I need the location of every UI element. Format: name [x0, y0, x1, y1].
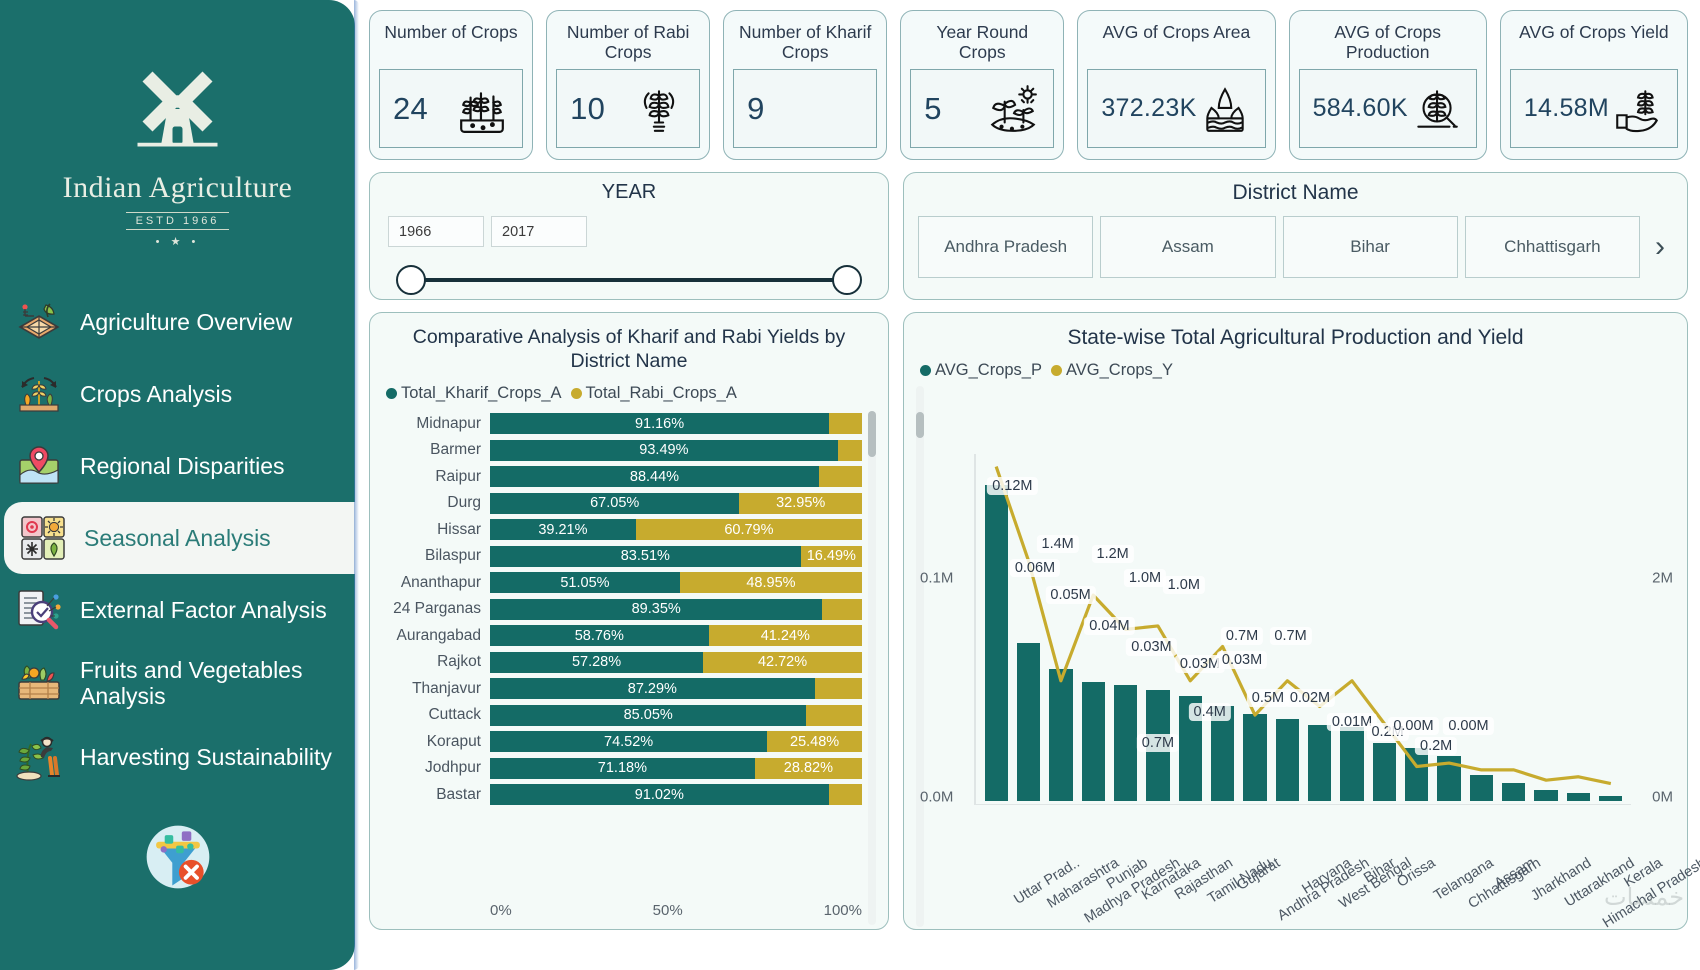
- bar-row-label: Jodhpur: [380, 759, 490, 777]
- bar-segment-rabi-label: 42.72%: [758, 654, 807, 670]
- bar-segment-kharif[interactable]: 88.44%: [490, 466, 819, 487]
- bar-segment-kharif[interactable]: 87.29%: [490, 678, 815, 699]
- bar-segment-kharif-label: 57.28%: [572, 654, 621, 670]
- map-pin-icon: [14, 441, 64, 491]
- bar-row[interactable]: Bilaspur83.51%16.49%: [380, 543, 862, 569]
- crop-cycle-icon: [14, 369, 64, 419]
- bar-segment-rabi[interactable]: [822, 599, 862, 620]
- bar-segment-kharif-label: 39.21%: [538, 522, 587, 538]
- kpi-value: 14.58M: [1524, 94, 1609, 123]
- bar-segment-kharif-label: 89.35%: [632, 601, 681, 617]
- statewise-data-label: 0.00M: [1388, 717, 1438, 735]
- district-option-chhattisgarh[interactable]: Chhattisgarh: [1465, 216, 1640, 278]
- kpi-card-avg-of-crops-production[interactable]: AVG of Crops Production584.60K: [1289, 10, 1487, 160]
- bar-segment-kharif-label: 58.76%: [575, 628, 624, 644]
- bar-stack: 87.29%: [490, 678, 862, 699]
- bar-segment-kharif-label: 71.18%: [598, 760, 647, 776]
- sidebar-item-label: Agriculture Overview: [80, 309, 292, 335]
- district-filter-title: District Name: [918, 181, 1673, 205]
- sidebar-item-label: External Factor Analysis: [80, 597, 327, 623]
- bar-segment-kharif[interactable]: 39.21%: [490, 519, 636, 540]
- bar-chart-scroll-thumb[interactable]: [868, 411, 876, 457]
- bar-segment-kharif[interactable]: 57.28%: [490, 652, 703, 673]
- sidebar-item-label: Seasonal Analysis: [84, 525, 271, 551]
- bar-stack: 83.51%16.49%: [490, 546, 862, 567]
- bar-segment-rabi[interactable]: 60.79%: [636, 519, 862, 540]
- crop-rows-icon: [454, 83, 510, 135]
- district-option-bihar[interactable]: Bihar: [1283, 216, 1458, 278]
- legend-dot-kharif: [386, 388, 397, 399]
- kpi-body: 584.60K: [1299, 69, 1477, 148]
- bar-segment-kharif-label: 83.51%: [621, 548, 670, 564]
- statewise-plot-area: 0.12M1.4M0.06M1.2M0.05M1.0M1.0M0.04M0.03…: [914, 382, 1677, 923]
- bar-row[interactable]: Durg67.05%32.95%: [380, 490, 862, 516]
- bar-row-label: Raipur: [380, 468, 490, 486]
- wheat-bundle-icon: [631, 83, 687, 135]
- bar-row-label: Koraput: [380, 733, 490, 751]
- bar-stack: 91.16%: [490, 413, 862, 434]
- bar-segment-kharif-label: 85.05%: [624, 707, 673, 723]
- bar-segment-kharif[interactable]: 67.05%: [490, 493, 739, 514]
- bar-segment-kharif[interactable]: 71.18%: [490, 758, 755, 779]
- bar-segment-kharif-label: 91.02%: [635, 787, 684, 803]
- bar-row[interactable]: Rajkot57.28%42.72%: [380, 649, 862, 675]
- statewise-chart-card: State-wise Total Agricultural Production…: [903, 312, 1688, 930]
- bar-stack: 51.05%48.95%: [490, 572, 862, 593]
- bar-segment-kharif[interactable]: 93.49%: [490, 440, 838, 461]
- statewise-data-label: 0.03M: [1217, 651, 1267, 669]
- bar-row-label: 24 Parganas: [380, 600, 490, 618]
- bar-segment-kharif-label: 91.16%: [635, 416, 684, 432]
- statewise-data-label: 0.7M: [1137, 734, 1179, 752]
- statewise-left-axis-tick-1: 0.1M: [920, 570, 953, 587]
- legend-item-avg-crops-p[interactable]: AVG_Crops_P: [920, 361, 1042, 380]
- kpi-body: 24: [379, 69, 523, 148]
- brand-estd: ESTD 1966: [126, 212, 230, 230]
- legend-dot-rabi: [571, 388, 582, 399]
- bar-stack: 67.05%32.95%: [490, 493, 862, 514]
- kpi-card-year-round-crops[interactable]: Year Round Crops5: [900, 10, 1064, 160]
- sidebar-item-crops-analysis[interactable]: Crops Analysis: [0, 358, 355, 430]
- sprout-sun-icon: [985, 83, 1041, 135]
- bar-row[interactable]: Hissar39.21%60.79%: [380, 517, 862, 543]
- bar-segment-kharif[interactable]: 89.35%: [490, 599, 822, 620]
- sidebar-item-fruits-and-vegetables-analysis[interactable]: Fruits and Vegetables Analysis: [0, 646, 355, 721]
- document-magnifier-icon: [14, 585, 64, 635]
- year-range-slider[interactable]: [388, 264, 870, 296]
- bar-row[interactable]: Jodhpur71.18%28.82%: [380, 755, 862, 781]
- statewise-data-label: 0.5M: [1247, 689, 1289, 707]
- bar-segment-rabi-label: 32.95%: [776, 495, 825, 511]
- statewise-data-label: 1.0M: [1163, 576, 1205, 594]
- bar-row-label: Barmer: [380, 441, 490, 459]
- kpi-value: 5: [924, 91, 942, 127]
- bar-chart-scrollbar[interactable]: [868, 411, 876, 925]
- bar-segment-kharif[interactable]: 83.51%: [490, 546, 801, 567]
- bar-segment-rabi-label: 16.49%: [807, 548, 856, 564]
- sidebar-item-external-factor-analysis[interactable]: External Factor Analysis: [0, 574, 355, 646]
- sidebar-nav: Agriculture OverviewCrops AnalysisRegion…: [0, 286, 355, 793]
- bar-segment-kharif[interactable]: 85.05%: [490, 705, 806, 726]
- bar-segment-kharif[interactable]: 51.05%: [490, 572, 680, 593]
- clear-filter-button[interactable]: [0, 819, 355, 895]
- bar-chart-x-axis: 0%50%100%: [490, 902, 862, 919]
- bar-segment-rabi[interactable]: [829, 413, 862, 434]
- year-slider-track[interactable]: [410, 278, 848, 282]
- bar-x-tick: 0%: [490, 902, 512, 919]
- four-seasons-icon: [18, 513, 68, 563]
- bar-segment-rabi[interactable]: 32.95%: [739, 493, 862, 514]
- bar-row-label: Durg: [380, 494, 490, 512]
- statewise-left-axis-tick-0: 0.0M: [920, 789, 953, 806]
- statewise-data-label: 1.2M: [1092, 545, 1134, 563]
- bar-segment-kharif-label: 74.52%: [604, 734, 653, 750]
- bar-segment-kharif-label: 88.44%: [630, 469, 679, 485]
- kharif-rabi-chart-card: Comparative Analysis of Kharif and Rabi …: [369, 312, 889, 930]
- kpi-title: Year Round Crops: [910, 21, 1054, 63]
- bar-segment-rabi[interactable]: [838, 440, 862, 461]
- bar-segment-kharif[interactable]: 91.16%: [490, 413, 829, 434]
- bar-stack: 71.18%28.82%: [490, 758, 862, 779]
- kpi-title: Number of Kharif Crops: [733, 21, 877, 63]
- statewise-data-label: 0.04M: [1084, 617, 1134, 635]
- bar-segment-rabi[interactable]: [819, 466, 862, 487]
- kharif-rabi-chart-title: Comparative Analysis of Kharif and Rabi …: [380, 323, 878, 374]
- year-slider-handle-min[interactable]: [396, 265, 426, 295]
- bar-row-label: Rajkot: [380, 653, 490, 671]
- kpi-title: Number of Crops: [379, 21, 523, 63]
- bar-segment-rabi[interactable]: 48.95%: [680, 572, 862, 593]
- kpi-body: 10: [556, 69, 700, 148]
- statewise-data-label: 0.4M: [1189, 703, 1231, 721]
- kharif-rabi-plot-area: Midnapur91.16%Barmer93.49%Raipur88.44%Du…: [380, 409, 878, 923]
- year-filter-title: YEAR: [388, 181, 870, 204]
- main-content: Number of Crops24Number of Rabi Crops10N…: [355, 0, 1700, 970]
- kpi-body: 14.58M: [1510, 69, 1678, 148]
- legend-dot-avg-crops-y: [1051, 365, 1062, 376]
- kpi-title: AVG of Crops Area: [1087, 21, 1265, 63]
- statewise-scroll-thumb[interactable]: [916, 412, 924, 438]
- statewise-data-label: 0.2M: [1415, 737, 1457, 755]
- statewise-data-label: 0.02M: [1285, 689, 1335, 707]
- bar-row-label: Aurangabad: [380, 627, 490, 645]
- kpi-card-avg-of-crops-yield[interactable]: AVG of Crops Yield14.58M: [1500, 10, 1688, 160]
- kpi-value: 10: [570, 91, 605, 127]
- legend-item-rabi[interactable]: Total_Rabi_Crops_A: [571, 384, 737, 403]
- bar-segment-kharif[interactable]: 58.76%: [490, 625, 709, 646]
- bar-segment-rabi[interactable]: [815, 678, 862, 699]
- statewise-y-axis-line: [974, 454, 976, 805]
- sidebar-item-regional-disparities[interactable]: Regional Disparities: [0, 430, 355, 502]
- statewise-data-label: 0.12M: [987, 477, 1037, 495]
- bar-x-tick: 50%: [653, 902, 683, 919]
- statewise-data-label: 0.00M: [1443, 717, 1493, 735]
- bar-segment-rabi-label: 25.48%: [790, 734, 839, 750]
- bar-x-tick: 100%: [824, 902, 862, 919]
- statewise-right-axis-tick-0: 0M: [1652, 789, 1673, 806]
- bar-segment-kharif-label: 67.05%: [590, 495, 639, 511]
- bar-stack: 91.02%: [490, 784, 862, 805]
- bar-row[interactable]: Ananthapur51.05%48.95%: [380, 570, 862, 596]
- district-option-list: Andhra PradeshAssamBiharChhattisgarh›: [918, 216, 1673, 278]
- bar-row-label: Thanjavur: [380, 680, 490, 698]
- kpi-card-number-of-rabi-crops[interactable]: Number of Rabi Crops10: [546, 10, 710, 160]
- bar-stack: 85.05%: [490, 705, 862, 726]
- bar-segment-rabi[interactable]: 16.49%: [801, 546, 862, 567]
- brand-name: Indian Agriculture: [0, 171, 355, 205]
- legend-dot-avg-crops-p: [920, 365, 931, 376]
- crop-magnifier-icon: [1408, 83, 1464, 135]
- sidebar-item-seasonal-analysis[interactable]: Seasonal Analysis: [4, 502, 355, 574]
- district-next-page-icon[interactable]: ›: [1647, 216, 1673, 278]
- dashboard-root: Indian Agriculture ESTD 1966 • ★ • Agric…: [0, 0, 1700, 970]
- bar-segment-rabi[interactable]: 28.82%: [755, 758, 862, 779]
- legend-label-avg-crops-y: AVG_Crops_Y: [1066, 361, 1173, 380]
- sidebar: Indian Agriculture ESTD 1966 • ★ • Agric…: [0, 0, 355, 970]
- charts-row: Comparative Analysis of Kharif and Rabi …: [369, 312, 1688, 930]
- statewise-data-label: 1.0M: [1124, 569, 1166, 587]
- district-option-andhra-pradesh[interactable]: Andhra Pradesh: [918, 216, 1093, 278]
- kpi-card-row: Number of Crops24Number of Rabi Crops10N…: [369, 10, 1688, 160]
- year-range-inputs: 1966 2017: [388, 216, 870, 247]
- bar-row[interactable]: Cuttack85.05%: [380, 702, 862, 728]
- hand-plant-icon: [1609, 83, 1665, 135]
- bar-stack: 88.44%: [490, 466, 862, 487]
- bar-segment-kharif-label: 87.29%: [628, 681, 677, 697]
- windmill-icon: [115, 44, 240, 169]
- bar-row-label: Midnapur: [380, 415, 490, 433]
- kpi-card-number-of-kharif-crops[interactable]: Number of Kharif Crops9: [723, 10, 887, 160]
- year-max-input[interactable]: 2017: [491, 216, 587, 247]
- bar-segment-rabi[interactable]: [829, 784, 862, 805]
- field-plot-icon: [14, 297, 64, 347]
- bar-segment-rabi[interactable]: 41.24%: [709, 625, 862, 646]
- sidebar-item-harvesting-sustainability[interactable]: Harvesting Sustainability: [0, 721, 355, 793]
- sidebar-item-label: Crops Analysis: [80, 381, 232, 407]
- statewise-right-axis-tick-1: 2M: [1652, 570, 1673, 587]
- year-filter-panel: YEAR 1966 2017: [369, 172, 889, 300]
- vegetable-crate-icon: [14, 658, 64, 708]
- kpi-card-number-of-crops[interactable]: Number of Crops24: [369, 10, 533, 160]
- bar-row-label: Ananthapur: [380, 574, 490, 592]
- bar-row[interactable]: Koraput74.52%25.48%: [380, 729, 862, 755]
- bar-row[interactable]: Aurangabad58.76%41.24%: [380, 623, 862, 649]
- legend-label-avg-crops-p: AVG_Crops_P: [935, 361, 1042, 380]
- statewise-legend: AVG_Crops_P AVG_Crops_Y: [920, 361, 1677, 380]
- clear-filter-icon[interactable]: [140, 819, 216, 895]
- field-area-icon: [1197, 83, 1253, 135]
- kpi-body: 372.23K: [1087, 69, 1265, 148]
- statewise-x-axis-line: [974, 804, 1631, 806]
- bar-row-label: Bilaspur: [380, 547, 490, 565]
- bar-row[interactable]: Midnapur91.16%: [380, 411, 862, 437]
- bar-row[interactable]: 24 Parganas89.35%: [380, 596, 862, 622]
- farmer-harvest-icon: [14, 732, 64, 782]
- statewise-bars-and-line: 0.12M1.4M0.06M1.2M0.05M1.0M1.0M0.04M0.03…: [980, 458, 1627, 801]
- statewise-data-label: 0.7M: [1269, 627, 1311, 645]
- bar-segment-kharif-label: 93.49%: [639, 442, 688, 458]
- kpi-body: 9: [733, 69, 877, 148]
- bar-segment-rabi-label: 41.24%: [761, 628, 810, 644]
- kpi-value: 9: [747, 91, 765, 127]
- bar-row-list: Midnapur91.16%Barmer93.49%Raipur88.44%Du…: [380, 411, 862, 893]
- kpi-title: AVG of Crops Production: [1299, 21, 1477, 63]
- sidebar-item-label: Harvesting Sustainability: [80, 744, 332, 770]
- legend-label-kharif: Total_Kharif_Crops_A: [401, 384, 562, 403]
- legend-item-kharif[interactable]: Total_Kharif_Crops_A: [386, 384, 562, 403]
- kpi-card-avg-of-crops-area[interactable]: AVG of Crops Area372.23K: [1077, 10, 1275, 160]
- bar-segment-rabi-label: 48.95%: [746, 575, 795, 591]
- sidebar-item-label: Fruits and Vegetables Analysis: [80, 657, 355, 710]
- bar-segment-rabi[interactable]: [806, 705, 862, 726]
- kpi-value: 372.23K: [1101, 94, 1196, 123]
- bar-stack: 74.52%25.48%: [490, 731, 862, 752]
- kpi-title: Number of Rabi Crops: [556, 21, 700, 63]
- bar-segment-rabi[interactable]: 42.72%: [703, 652, 862, 673]
- kpi-value: 584.60K: [1313, 94, 1408, 123]
- district-option-assam[interactable]: Assam: [1100, 216, 1275, 278]
- statewise-scrollbar[interactable]: [916, 386, 924, 927]
- statewise-data-label: 0.03M: [1126, 638, 1176, 656]
- legend-item-avg-crops-y[interactable]: AVG_Crops_Y: [1051, 361, 1173, 380]
- bar-segment-kharif[interactable]: 74.52%: [490, 731, 767, 752]
- bar-segment-rabi-label: 28.82%: [784, 760, 833, 776]
- bar-stack: 58.76%41.24%: [490, 625, 862, 646]
- bar-stack: 57.28%42.72%: [490, 652, 862, 673]
- bar-stack: 93.49%: [490, 440, 862, 461]
- statewise-data-label: 1.4M: [1037, 535, 1079, 553]
- statewise-chart-title: State-wise Total Agricultural Production…: [914, 323, 1677, 351]
- bar-row[interactable]: Barmer93.49%: [380, 437, 862, 463]
- brand-dots: • ★ •: [0, 235, 355, 248]
- statewise-data-label: 0.06M: [1010, 559, 1060, 577]
- bar-row[interactable]: Thanjavur87.29%: [380, 676, 862, 702]
- bar-row[interactable]: Raipur88.44%: [380, 464, 862, 490]
- district-filter-panel: District Name Andhra PradeshAssamBiharCh…: [903, 172, 1688, 300]
- bar-stack: 89.35%: [490, 599, 862, 620]
- year-slider-handle-max[interactable]: [832, 265, 862, 295]
- bar-row-label: Cuttack: [380, 706, 490, 724]
- bar-stack: 39.21%60.79%: [490, 519, 862, 540]
- bar-row-label: Bastar: [380, 786, 490, 804]
- statewise-data-label: 0.05M: [1045, 586, 1095, 604]
- bar-segment-kharif[interactable]: 91.02%: [490, 784, 829, 805]
- bar-row-label: Hissar: [380, 521, 490, 539]
- legend-label-rabi: Total_Rabi_Crops_A: [586, 384, 737, 403]
- kharif-rabi-legend: Total_Kharif_Crops_A Total_Rabi_Crops_A: [386, 384, 878, 403]
- statewise-data-label: 0.7M: [1221, 627, 1263, 645]
- brand-logo: Indian Agriculture ESTD 1966 • ★ •: [0, 44, 355, 248]
- bar-segment-rabi[interactable]: 25.48%: [767, 731, 862, 752]
- year-min-input[interactable]: 1966: [388, 216, 484, 247]
- kpi-body: 5: [910, 69, 1054, 148]
- kpi-title: AVG of Crops Yield: [1510, 21, 1678, 63]
- bar-segment-kharif-label: 51.05%: [560, 575, 609, 591]
- sidebar-item-label: Regional Disparities: [80, 453, 285, 479]
- bar-row[interactable]: Bastar91.02%: [380, 782, 862, 808]
- bar-segment-rabi-label: 60.79%: [724, 522, 773, 538]
- filter-row: YEAR 1966 2017 District Name Andhra Prad…: [369, 172, 1688, 300]
- kpi-value: 24: [393, 91, 428, 127]
- sidebar-item-agriculture-overview[interactable]: Agriculture Overview: [0, 286, 355, 358]
